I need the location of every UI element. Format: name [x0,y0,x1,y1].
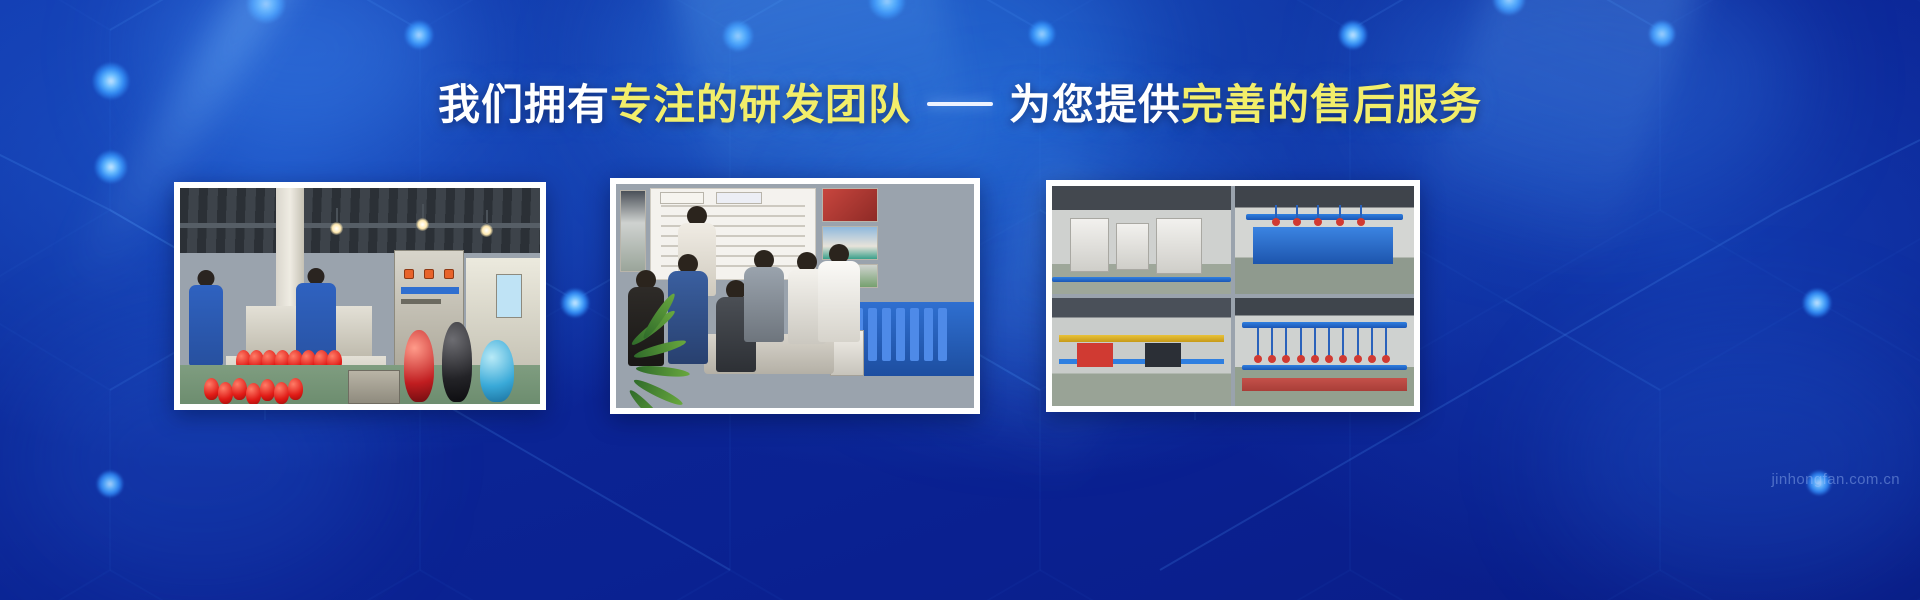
person-seated [818,244,860,342]
glow-node [722,20,754,52]
promo-banner: 我们拥有专注的研发团队为您提供完善的售后服务 [0,0,1920,600]
production-line-photo [180,188,540,404]
headline-part-3: 为您提供 [1009,81,1181,128]
red-parts-pile [204,378,314,400]
headline-part-4: 完善的售后服务 [1181,81,1482,128]
glow-node [246,0,286,24]
workshop-quadrant-1 [1052,186,1231,294]
ceiling-lamp [480,224,493,237]
glow-node [868,0,906,20]
black-vase-product [442,322,472,402]
ceiling-lamp [330,222,343,235]
photo-card-team-meeting[interactable] [610,178,980,414]
panel-button [404,269,414,279]
site-watermark: jinhongfan.com.cn [1771,471,1900,488]
glow-node [1338,20,1368,50]
glow-node [1028,20,1056,48]
workshop-quadrant-4 [1235,298,1414,406]
potted-plant [622,328,712,408]
panel-button [444,269,454,279]
photo-card-workshop-grid[interactable] [1046,180,1420,412]
certificate-poster [660,192,704,204]
glow-node [1648,20,1676,48]
photo-poster [822,188,878,222]
glow-node [96,470,124,498]
workshop-quadrant-3 [1052,298,1231,406]
worker-figure [189,270,223,366]
headline-dash [927,102,993,106]
bloom-glow [150,0,450,160]
photo-card-row [0,182,1920,414]
photo-card-production-line[interactable] [174,182,546,410]
headline-part-1: 我们拥有 [438,81,610,128]
workshop-quadrant-2 [1235,186,1414,294]
red-vase-product [404,330,434,402]
panel-button [424,269,434,279]
door-sign [496,274,522,318]
glow-node [1492,0,1526,16]
panel-label [401,287,459,294]
ceiling-lamp [416,218,429,231]
team-meeting-photo [616,184,974,408]
panel-label [401,299,441,304]
glow-node [404,20,434,50]
headline-part-2: 专注的研发团队 [610,81,911,128]
parts-crate [348,370,400,404]
blue-vase-product [480,340,514,402]
photo-poster [620,190,646,272]
workshop-equipment-photo [1052,186,1414,406]
certificate-poster [716,192,762,204]
glow-node [94,150,128,184]
banner-headline: 我们拥有专注的研发团队为您提供完善的售后服务 [0,84,1920,126]
person-seated [744,250,784,342]
